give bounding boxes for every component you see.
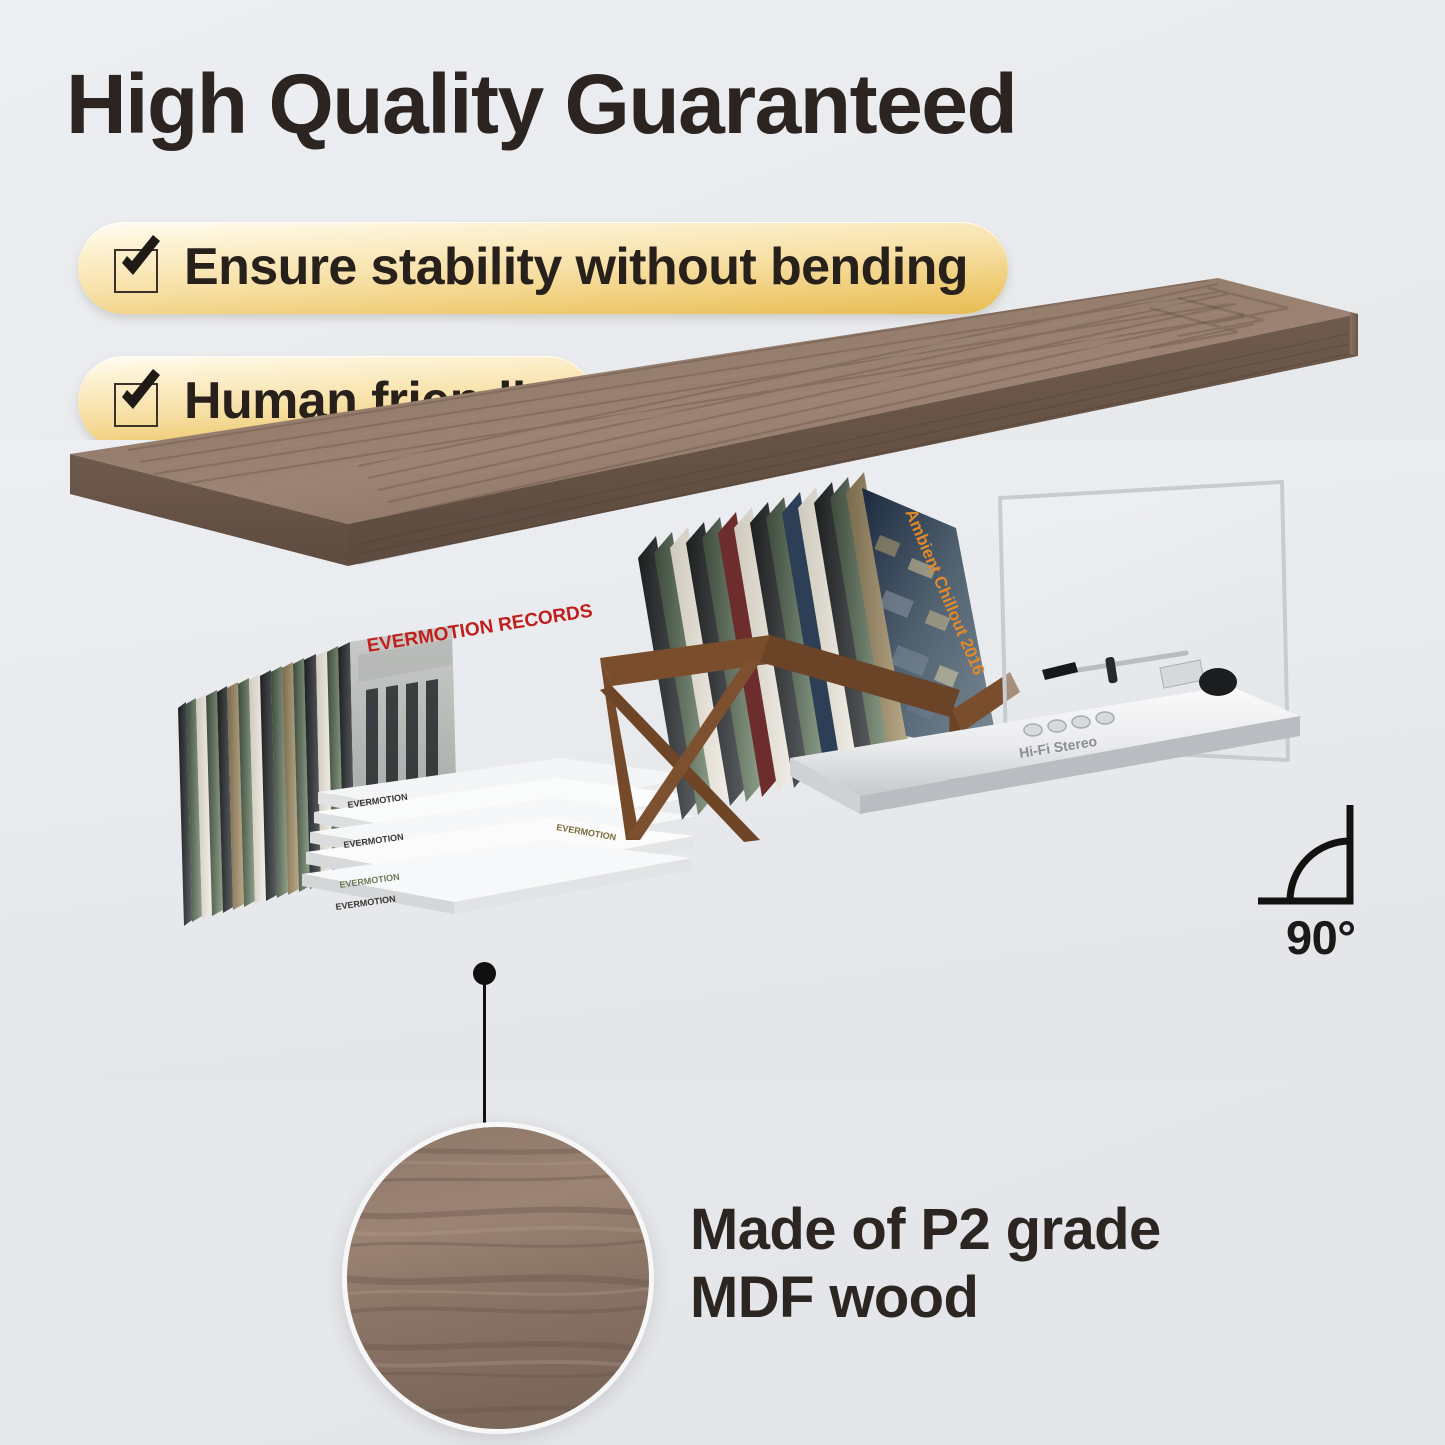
callout-line-1: Made of P2 grade: [690, 1196, 1161, 1264]
right-angle-icon: [1258, 805, 1368, 910]
marketing-image: High Quality Guaranteed Ensure stability…: [0, 0, 1445, 1445]
floating-shelf: [58, 278, 1358, 598]
callout-leader-line: [483, 982, 486, 1134]
page-title: High Quality Guaranteed: [66, 56, 1016, 153]
angle-value: 90°: [1286, 910, 1356, 965]
material-callout: Made of P2 grade MDF wood: [690, 1196, 1161, 1333]
wood-grain-magnifier: [342, 1122, 654, 1434]
callout-line-2: MDF wood: [690, 1264, 1161, 1332]
